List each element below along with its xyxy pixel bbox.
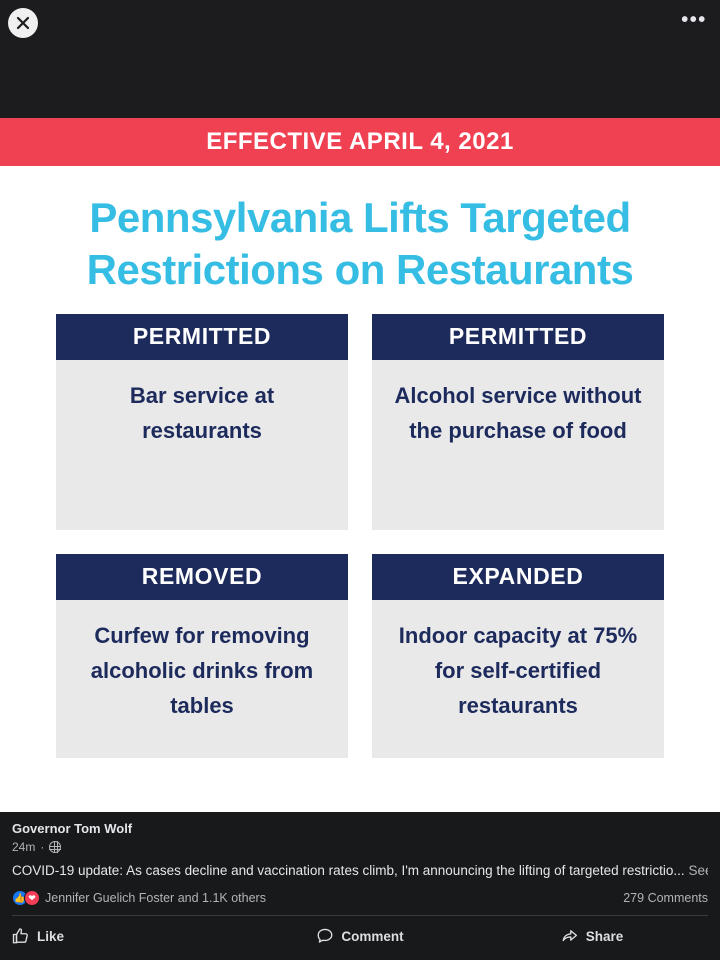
card-header: PERMITTED <box>372 314 664 360</box>
card-header: PERMITTED <box>56 314 348 360</box>
graphic-headline: Pennsylvania Lifts Targeted Restrictions… <box>0 166 720 314</box>
info-card: PERMITTED Bar service at restaurants <box>56 314 348 530</box>
comment-label: Comment <box>341 929 403 944</box>
separator-dot: · <box>40 839 44 855</box>
card-body: Indoor capacity at 75% for self-certifie… <box>372 600 664 745</box>
post-details: Governor Tom Wolf 24m · COVID-19 update:… <box>0 812 720 960</box>
comment-button[interactable]: Comment <box>244 923 476 949</box>
banner-text: EFFECTIVE APRIL 4, 2021 <box>206 128 514 156</box>
share-label: Share <box>586 929 624 944</box>
close-icon[interactable] <box>8 8 38 38</box>
cards-row-top: PERMITTED Bar service at restaurants PER… <box>0 314 720 530</box>
share-arrow-icon <box>561 927 579 945</box>
thumbs-up-icon <box>12 927 30 945</box>
card-body: Bar service at restaurants <box>56 360 348 470</box>
reactions-bar: 👍 ❤ Jennifer Guelich Foster and 1.1K oth… <box>12 890 708 906</box>
see-more-link[interactable]: See More <box>688 863 708 878</box>
effective-date-banner: EFFECTIVE APRIL 4, 2021 <box>0 118 720 166</box>
post-author[interactable]: Governor Tom Wolf <box>12 820 708 838</box>
comment-bubble-icon <box>316 927 334 945</box>
post-body-text: COVID-19 update: As cases decline and va… <box>12 863 685 878</box>
post-viewer-screen: ••• EFFECTIVE APRIL 4, 2021 Pennsylvania… <box>0 0 720 960</box>
comments-count[interactable]: 279 Comments <box>623 891 708 905</box>
reaction-icons: 👍 ❤ <box>12 890 40 906</box>
info-card: PERMITTED Alcohol service without the pu… <box>372 314 664 530</box>
post-text: COVID-19 update: As cases decline and va… <box>12 862 708 880</box>
viewer-topbar: ••• <box>0 0 720 118</box>
card-body: Alcohol service without the purchase of … <box>372 360 664 470</box>
cards-row-bottom: REMOVED Curfew for removing alcoholic dr… <box>0 554 720 758</box>
heart-reaction-icon: ❤ <box>24 890 40 906</box>
post-actions: Like Comment Share <box>12 915 708 949</box>
reaction-names[interactable]: Jennifer Guelich Foster and 1.1K others <box>45 891 623 905</box>
post-image[interactable]: EFFECTIVE APRIL 4, 2021 Pennsylvania Lif… <box>0 118 720 812</box>
globe-icon <box>49 841 61 853</box>
like-button[interactable]: Like <box>12 923 244 949</box>
more-options-icon[interactable]: ••• <box>680 12 708 36</box>
post-timestamp: 24m <box>12 839 35 855</box>
card-header: EXPANDED <box>372 554 664 600</box>
like-label: Like <box>37 929 64 944</box>
card-header: REMOVED <box>56 554 348 600</box>
info-card: REMOVED Curfew for removing alcoholic dr… <box>56 554 348 758</box>
info-card: EXPANDED Indoor capacity at 75% for self… <box>372 554 664 758</box>
card-body: Curfew for removing alcoholic drinks fro… <box>56 600 348 745</box>
share-button[interactable]: Share <box>476 923 708 949</box>
post-meta: 24m · <box>12 839 708 855</box>
